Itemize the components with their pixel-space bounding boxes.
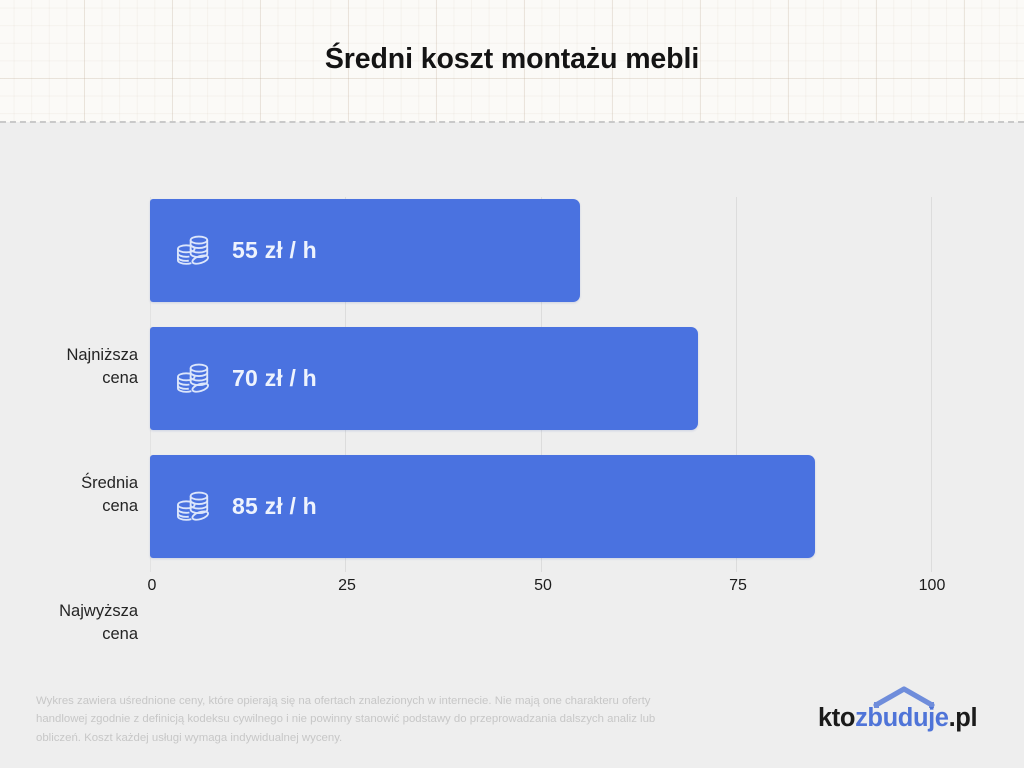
coins-icon	[174, 230, 216, 272]
coins-icon	[174, 358, 216, 400]
coins-icon	[174, 486, 216, 528]
bar-value-srednia-cena: 70 zł / h	[232, 365, 317, 392]
bar-najnizsza-cena[interactable]: 55 zł / h	[150, 199, 580, 302]
bar-row-srednia-cena: 70 zł / h	[150, 327, 932, 430]
category-label-najnizsza-cena: Najniższa cena	[0, 344, 138, 390]
logo-part-zbuduje: zbuduje	[855, 704, 949, 732]
disclaimer-text: Wykres zawiera uśrednione ceny, które op…	[36, 692, 676, 747]
category-label-line2: cena	[0, 623, 138, 646]
bar-value-najnizsza-cena: 55 zł / h	[232, 237, 317, 264]
bar-series: 55 zł / h 70 zł /	[150, 197, 932, 572]
category-label-line2: cena	[0, 367, 138, 390]
logo-wordmark: ktozbuduje.pl	[818, 704, 994, 733]
xtick-100: 100	[919, 577, 946, 595]
category-label-line2: cena	[0, 495, 138, 518]
category-label-najwyzsza-cena: Najwyższa cena	[0, 600, 138, 646]
plot-area: 55 zł / h 70 zł /	[150, 197, 932, 572]
logo-part-kto: kto	[818, 704, 855, 732]
page-title: Średni koszt montażu mebli	[0, 43, 1024, 76]
category-label-line1: Średnia	[0, 472, 138, 495]
category-label-line1: Najwyższa	[0, 600, 138, 623]
xtick-0: 0	[148, 577, 157, 595]
xtick-50: 50	[534, 577, 552, 595]
bar-row-najnizsza-cena: 55 zł / h	[150, 199, 932, 302]
bar-srednia-cena[interactable]: 70 zł / h	[150, 327, 698, 430]
xtick-25: 25	[338, 577, 356, 595]
bar-row-najwyzsza-cena: 85 zł / h	[150, 455, 932, 558]
bar-chart: Najniższa cena Średnia cena Najwyższa ce…	[0, 122, 1024, 662]
bar-value-najwyzsza-cena: 85 zł / h	[232, 493, 317, 520]
brand-logo[interactable]: ktozbuduje.pl	[818, 686, 994, 742]
bar-najwyzsza-cena[interactable]: 85 zł / h	[150, 455, 815, 558]
category-label-srednia-cena: Średnia cena	[0, 472, 138, 518]
logo-part-pl: .pl	[949, 704, 978, 732]
xtick-75: 75	[729, 577, 747, 595]
category-label-line1: Najniższa	[0, 344, 138, 367]
